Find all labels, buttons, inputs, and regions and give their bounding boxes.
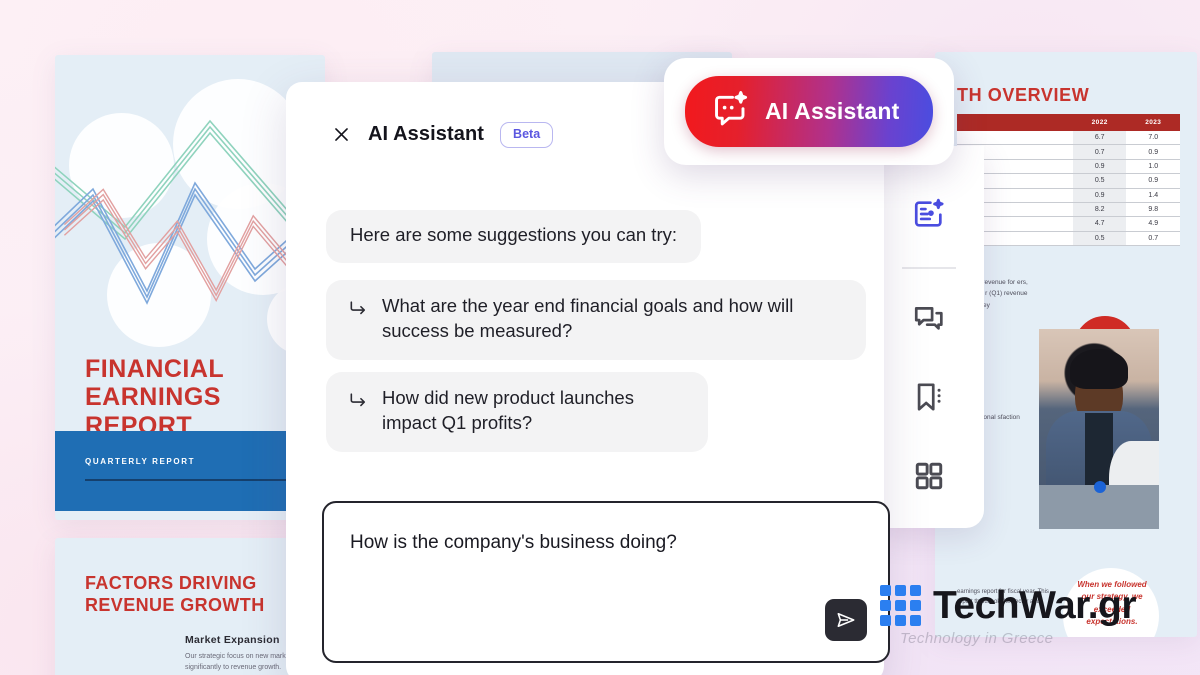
table-col-2022: 2022 xyxy=(1073,114,1127,131)
table-row: 0.91.4 xyxy=(957,188,1180,202)
tool-ai-assistant-icon[interactable] xyxy=(901,186,957,241)
document-band-label: QUARTERLY REPORT xyxy=(85,457,195,466)
document-band: QUARTERLY REPORT xyxy=(55,431,325,511)
photo-business-person xyxy=(1039,329,1159,529)
ai-chat-sparkle-icon xyxy=(711,90,749,133)
growth-overview-title: TH OVERVIEW xyxy=(957,85,1089,106)
cell-2023: 1.0 xyxy=(1126,159,1180,173)
document-factors-driving-revenue-growth[interactable]: FACTORS DRIVING REVENUE GROWTH Market Ex… xyxy=(55,538,325,675)
document-title: FINANCIAL EARNINGS REPORT xyxy=(85,355,224,440)
message-composer[interactable]: How is the company's business doing? xyxy=(322,501,890,663)
table-row: 0.70.9 xyxy=(957,145,1180,159)
document-title-line-1: FINANCIAL xyxy=(85,355,224,383)
cell-2022: 6.7 xyxy=(1073,131,1127,145)
cell-2022: 4.7 xyxy=(1073,217,1127,231)
panel-title: AI Assistant xyxy=(368,123,484,146)
table-header-row: 2022 2023 xyxy=(957,114,1180,131)
toolbar-divider xyxy=(902,267,956,268)
tool-bookmarks-icon[interactable] xyxy=(901,370,957,425)
document-band-rule xyxy=(85,479,311,481)
cell-2022: 0.5 xyxy=(1073,231,1127,245)
table-col-2023: 2023 xyxy=(1126,114,1180,131)
cell-2022: 8.2 xyxy=(1073,202,1127,216)
suggestion-text: How did new product launches impact Q1 p… xyxy=(382,386,682,436)
section-title-line-2: REVENUE GROWTH xyxy=(85,594,265,616)
techwar-grid-icon xyxy=(880,585,921,626)
suggestion-chip[interactable]: What are the year end financial goals an… xyxy=(326,280,866,360)
assistant-intro-message: Here are some suggestions you can try: xyxy=(326,210,701,263)
growth-overview-table: 2022 2023 6.77.0 0.70.9 0.91.0 0.50.9 0.… xyxy=(957,114,1180,246)
ai-assistant-button-label: AI Assistant xyxy=(765,98,899,125)
arrow-return-icon xyxy=(348,390,368,436)
cell-2022: 0.9 xyxy=(1073,159,1127,173)
cell-2023: 4.9 xyxy=(1126,217,1180,231)
section-title: FACTORS DRIVING REVENUE GROWTH xyxy=(85,572,265,617)
table-col-label xyxy=(957,114,1073,131)
watermark-subtitle: Technology in Greece xyxy=(900,630,1053,647)
table-row: 0.50.7 xyxy=(957,231,1180,245)
cell-2023: 1.4 xyxy=(1126,188,1180,202)
send-button[interactable] xyxy=(825,599,867,641)
table-row: 4.74.9 xyxy=(957,217,1180,231)
table-row: 8.29.8 xyxy=(957,202,1180,216)
suggestion-text: What are the year end financial goals an… xyxy=(382,294,840,344)
document-financial-earnings-report[interactable]: FINANCIAL EARNINGS REPORT QUARTERLY REPO… xyxy=(55,55,325,520)
arrow-return-icon xyxy=(348,298,368,344)
ai-assistant-pill-container: AI Assistant xyxy=(664,58,954,165)
cell-2022: 0.5 xyxy=(1073,174,1127,188)
table-row: 0.50.9 xyxy=(957,174,1180,188)
tool-apps-grid-icon[interactable] xyxy=(901,449,957,504)
watermark-text: TechWar.gr xyxy=(933,586,1136,625)
cell-2022: 0.9 xyxy=(1073,188,1127,202)
section-bullet-heading: Market Expansion xyxy=(185,634,280,646)
tool-comments-icon[interactable] xyxy=(901,291,957,346)
suggestion-chip[interactable]: How did new product launches impact Q1 p… xyxy=(326,372,708,452)
screenshot-stage: FINANCIAL EARNINGS REPORT QUARTERLY REPO… xyxy=(0,0,1200,675)
cell-2023: 0.9 xyxy=(1126,174,1180,188)
cell-2022: 0.7 xyxy=(1073,145,1127,159)
cell-2023: 9.8 xyxy=(1126,202,1180,216)
table-row: 6.77.0 xyxy=(957,131,1180,145)
watermark-logo: TechWar.gr xyxy=(880,585,1136,626)
table-row: 0.91.0 xyxy=(957,159,1180,173)
cell-2023: 0.7 xyxy=(1126,231,1180,245)
ai-assistant-button[interactable]: AI Assistant xyxy=(685,76,933,147)
cell-2023: 7.0 xyxy=(1126,131,1180,145)
right-tool-rail xyxy=(874,146,984,528)
close-icon[interactable] xyxy=(330,124,352,146)
document-title-line-2: EARNINGS xyxy=(85,383,224,411)
beta-badge: Beta xyxy=(500,122,553,148)
cell-2023: 0.9 xyxy=(1126,145,1180,159)
table-body: 6.77.0 0.70.9 0.91.0 0.50.9 0.91.4 8.29.… xyxy=(957,131,1180,246)
cell-label xyxy=(957,131,1073,145)
section-title-line-1: FACTORS DRIVING xyxy=(85,572,265,594)
zigzag-red xyxy=(55,177,325,327)
composer-input-value[interactable]: How is the company's business doing? xyxy=(350,531,828,556)
